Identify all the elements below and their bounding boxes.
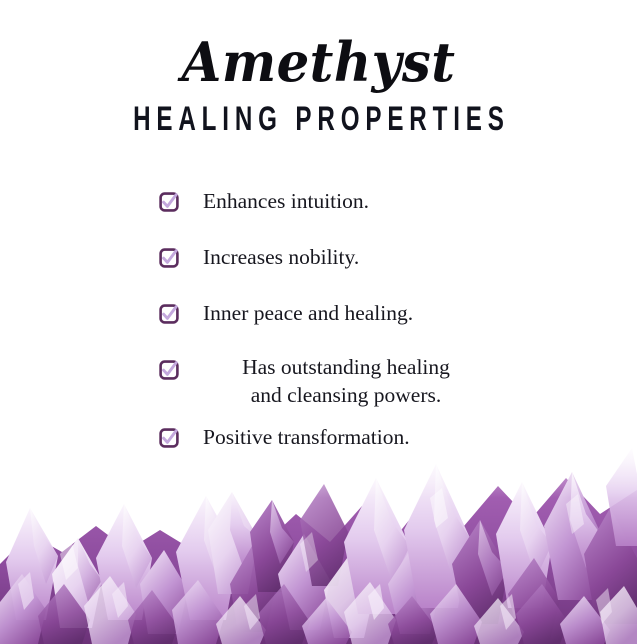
list-item-label: Positive transformation. bbox=[158, 416, 637, 450]
list-item[interactable]: Enhances intuition. bbox=[0, 180, 637, 236]
checkbox-checked-icon[interactable] bbox=[159, 304, 179, 324]
checkbox-checked-icon[interactable] bbox=[159, 360, 179, 380]
checkbox-checked-icon[interactable] bbox=[159, 248, 179, 268]
list-item-label: Has outstanding healing and cleansing po… bbox=[158, 348, 496, 409]
poster-header: Amethyst HEALING PROPERTIES bbox=[0, 0, 637, 133]
list-item-label: Enhances intuition. bbox=[158, 180, 637, 214]
list-item[interactable]: Inner peace and healing. bbox=[0, 292, 637, 348]
amethyst-healing-properties-poster: Amethyst HEALING PROPERTIES Enhances int… bbox=[0, 0, 637, 644]
list-item-label: Increases nobility. bbox=[158, 236, 637, 270]
page-title: Amethyst bbox=[16, 0, 621, 91]
list-item[interactable]: Has outstanding healing and cleansing po… bbox=[0, 348, 637, 416]
page-subtitle: HEALING PROPERTIES bbox=[70, 91, 567, 138]
list-item-label: Inner peace and healing. bbox=[158, 292, 637, 326]
list-item[interactable]: Increases nobility. bbox=[0, 236, 637, 292]
checkbox-checked-icon[interactable] bbox=[159, 192, 179, 212]
healing-properties-list: Enhances intuition. Increases nobility. … bbox=[0, 180, 637, 472]
list-item[interactable]: Positive transformation. bbox=[0, 416, 637, 472]
checkbox-checked-icon[interactable] bbox=[159, 428, 179, 448]
